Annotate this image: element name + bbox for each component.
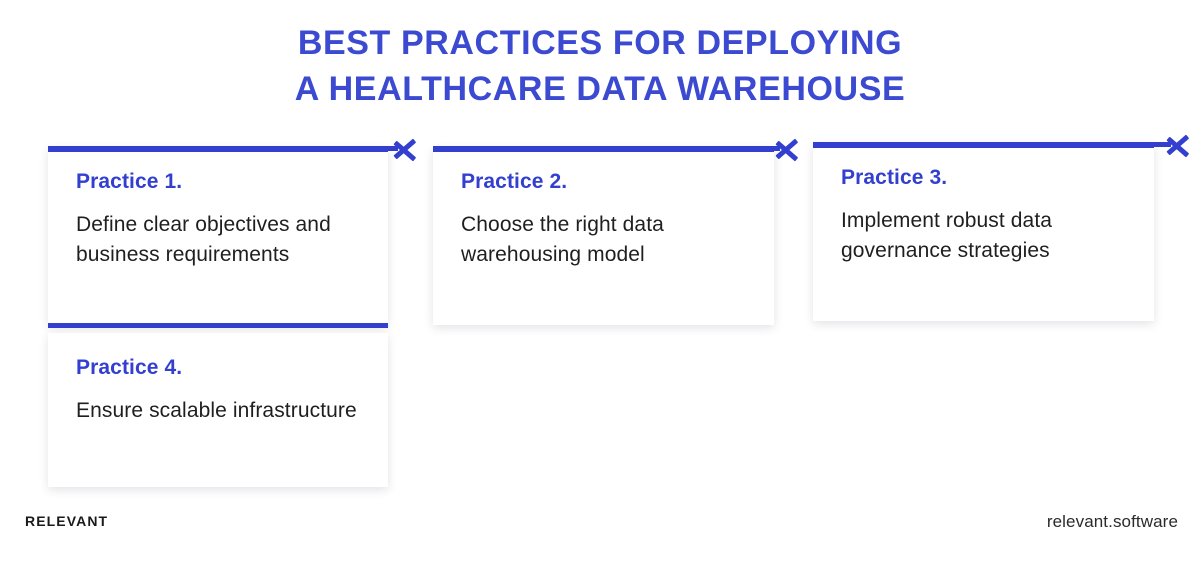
card-label-3: Practice 3. bbox=[841, 165, 1138, 191]
card-label-1: Practice 1. bbox=[76, 169, 372, 195]
card-body-2: Practice 2. Choose the right data wareho… bbox=[461, 169, 758, 270]
card-body-1: Practice 1. Define clear objectives and … bbox=[76, 169, 372, 270]
infographic-canvas: BEST PRACTICES FOR DEPLOYING A HEALTHCAR… bbox=[0, 0, 1200, 561]
page-title-line-1: BEST PRACTICES FOR DEPLOYING bbox=[0, 20, 1200, 66]
practice-card-4: Practice 4. Ensure scalable infrastructu… bbox=[48, 333, 388, 487]
card-top-rule-2 bbox=[433, 147, 774, 152]
arrow-head-3 bbox=[1166, 130, 1196, 160]
practice-card-1: Practice 1. Define clear objectives and … bbox=[48, 147, 388, 325]
card-top-rule-3 bbox=[813, 143, 1154, 148]
card-top-rule-1 bbox=[48, 147, 388, 152]
brand-logo: RELEVANT bbox=[25, 513, 108, 529]
card-text-1: Define clear objectives and business req… bbox=[76, 210, 372, 270]
card-label-4: Practice 4. bbox=[76, 355, 372, 381]
arrow-head-1 bbox=[393, 134, 423, 164]
card-text-4: Ensure scalable infrastructure bbox=[76, 396, 372, 426]
card-bottom-rule-1 bbox=[48, 323, 388, 328]
card-body-3: Practice 3. Implement robust data govern… bbox=[841, 165, 1138, 266]
card-text-3: Implement robust data governance strateg… bbox=[841, 206, 1138, 266]
page-title-line-2: A HEALTHCARE DATA WAREHOUSE bbox=[0, 66, 1200, 112]
brand-url: relevant.software bbox=[1047, 512, 1178, 532]
practice-card-2: Practice 2. Choose the right data wareho… bbox=[433, 147, 774, 325]
card-text-2: Choose the right data warehousing model bbox=[461, 210, 758, 270]
arrow-head-2 bbox=[775, 134, 805, 164]
practice-card-3: Practice 3. Implement robust data govern… bbox=[813, 143, 1154, 321]
page-title: BEST PRACTICES FOR DEPLOYING A HEALTHCAR… bbox=[0, 20, 1200, 112]
card-body-4: Practice 4. Ensure scalable infrastructu… bbox=[76, 355, 372, 426]
card-label-2: Practice 2. bbox=[461, 169, 758, 195]
